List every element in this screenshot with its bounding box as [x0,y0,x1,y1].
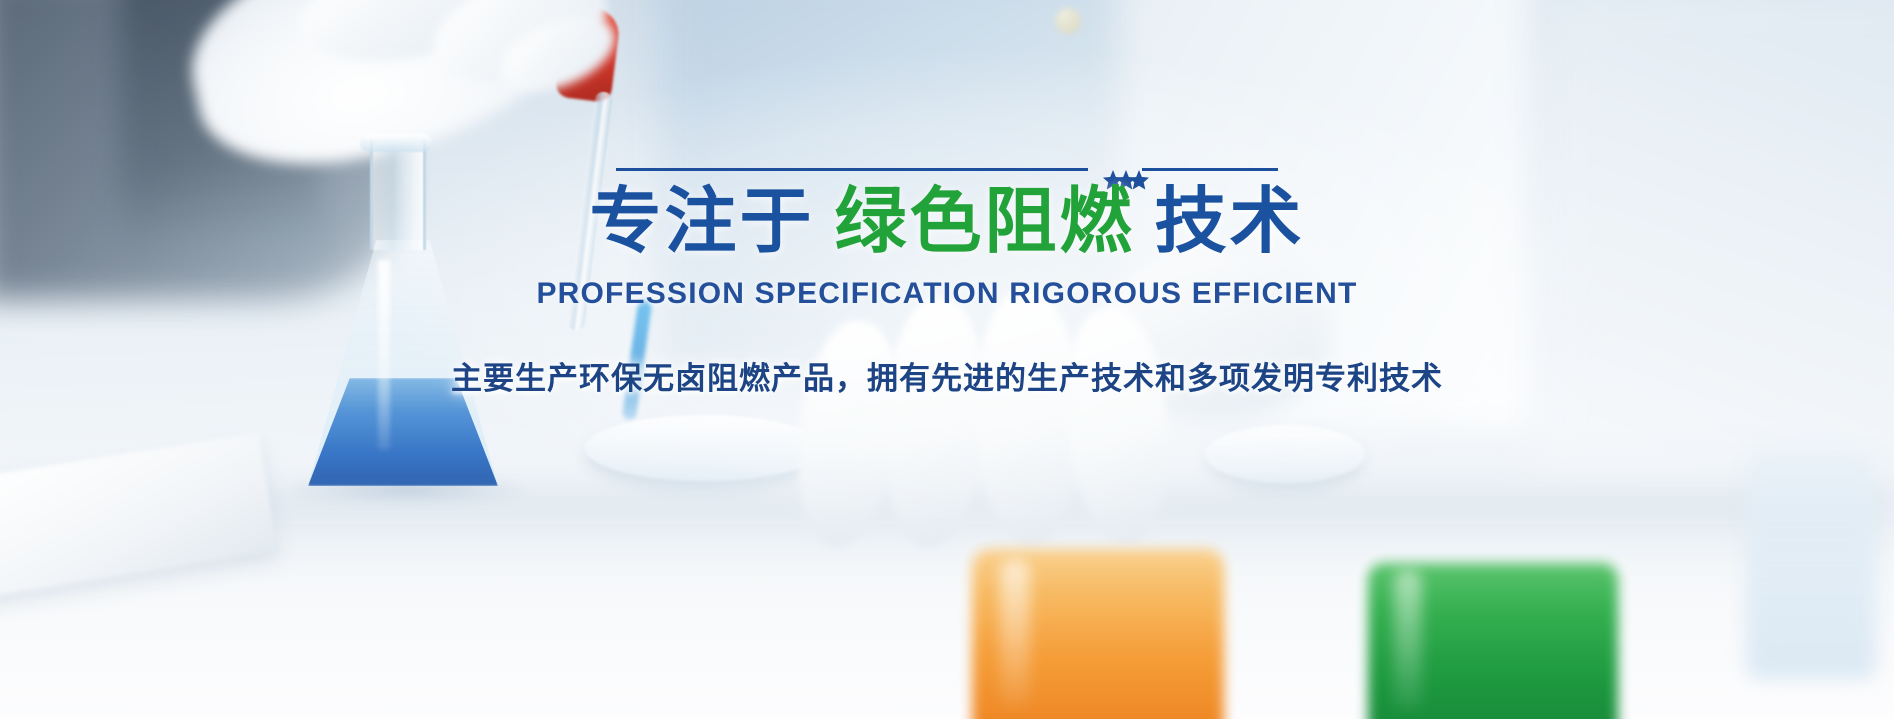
headline-part-1: 专注于 [589,182,814,262]
headline: 专注于绿色阻燃技术 [589,185,1304,261]
headline-part-3: 技术 [1155,182,1305,262]
tagline: 主要生产环保无卤阻燃产品，拥有先进的生产技术和多项发明专利技术 [451,353,1443,398]
divider-line-right [1142,168,1278,171]
subtitle: PROFESSION SPECIFICATION RIGOROUS EFFICI… [536,277,1357,311]
headline-part-2: 绿色阻燃 [834,182,1134,262]
divider-line-left [616,168,1088,171]
banner-content: 专注于绿色阻燃技术 PROFESSION SPECIFICATION RIGOR… [0,0,1894,719]
hero-banner: 专注于绿色阻燃技术 PROFESSION SPECIFICATION RIGOR… [0,0,1894,719]
decorative-divider [616,168,1278,171]
